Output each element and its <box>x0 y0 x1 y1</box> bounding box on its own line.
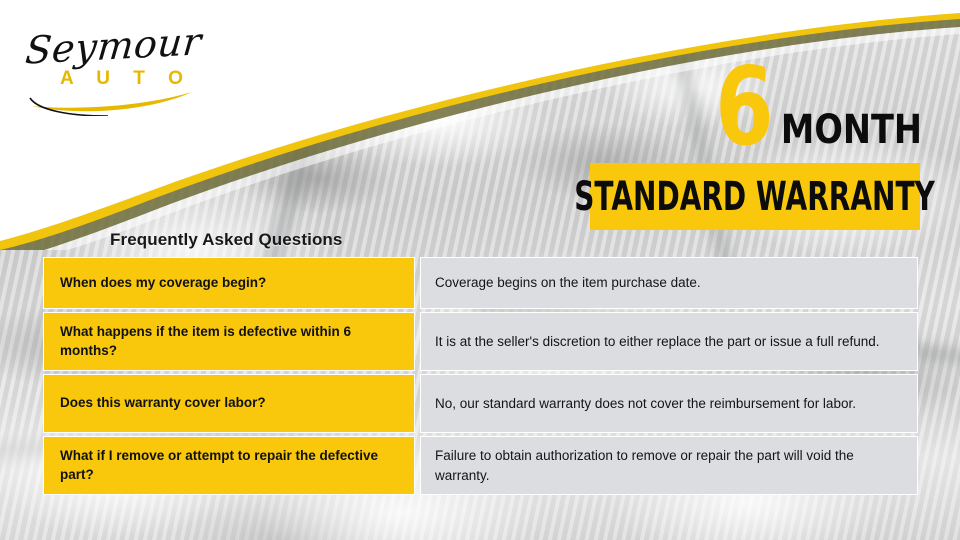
faq-answer-cell: It is at the seller's discretion to eith… <box>420 312 918 371</box>
table-row: What if I remove or attempt to repair th… <box>43 436 918 495</box>
faq-question-cell: Does this warranty cover labor? <box>43 374 415 433</box>
warranty-duration-unit: MONTH <box>781 110 922 150</box>
brand-logo-swoosh-icon <box>28 76 208 116</box>
warranty-duration-headline: 6 MONTH <box>590 46 922 158</box>
faq-answer-cell: Failure to obtain authorization to remov… <box>420 436 918 495</box>
standard-warranty-banner-label: STANDARD WARRANTY <box>575 177 936 217</box>
brand-logo: Seymour A U T O <box>20 14 200 110</box>
table-row: Does this warranty cover labor? No, our … <box>43 374 918 433</box>
faq-question-cell: What if I remove or attempt to repair th… <box>43 436 415 495</box>
faq-answer-cell: Coverage begins on the item purchase dat… <box>420 257 918 309</box>
table-row: When does my coverage begin? Coverage be… <box>43 257 918 309</box>
warranty-duration-number: 6 <box>715 54 772 162</box>
slide-canvas: Seymour A U T O 6 MONTH STANDARD WARRANT… <box>0 0 960 540</box>
standard-warranty-banner: STANDARD WARRANTY <box>590 163 920 230</box>
faq-section-heading: Frequently Asked Questions <box>110 230 342 250</box>
faq-table: When does my coverage begin? Coverage be… <box>43 257 918 495</box>
faq-question-cell: What happens if the item is defective wi… <box>43 312 415 371</box>
faq-answer-cell: No, our standard warranty does not cover… <box>420 374 918 433</box>
faq-question-cell: When does my coverage begin? <box>43 257 415 309</box>
table-row: What happens if the item is defective wi… <box>43 312 918 371</box>
brand-logo-script: Seymour <box>24 19 204 72</box>
